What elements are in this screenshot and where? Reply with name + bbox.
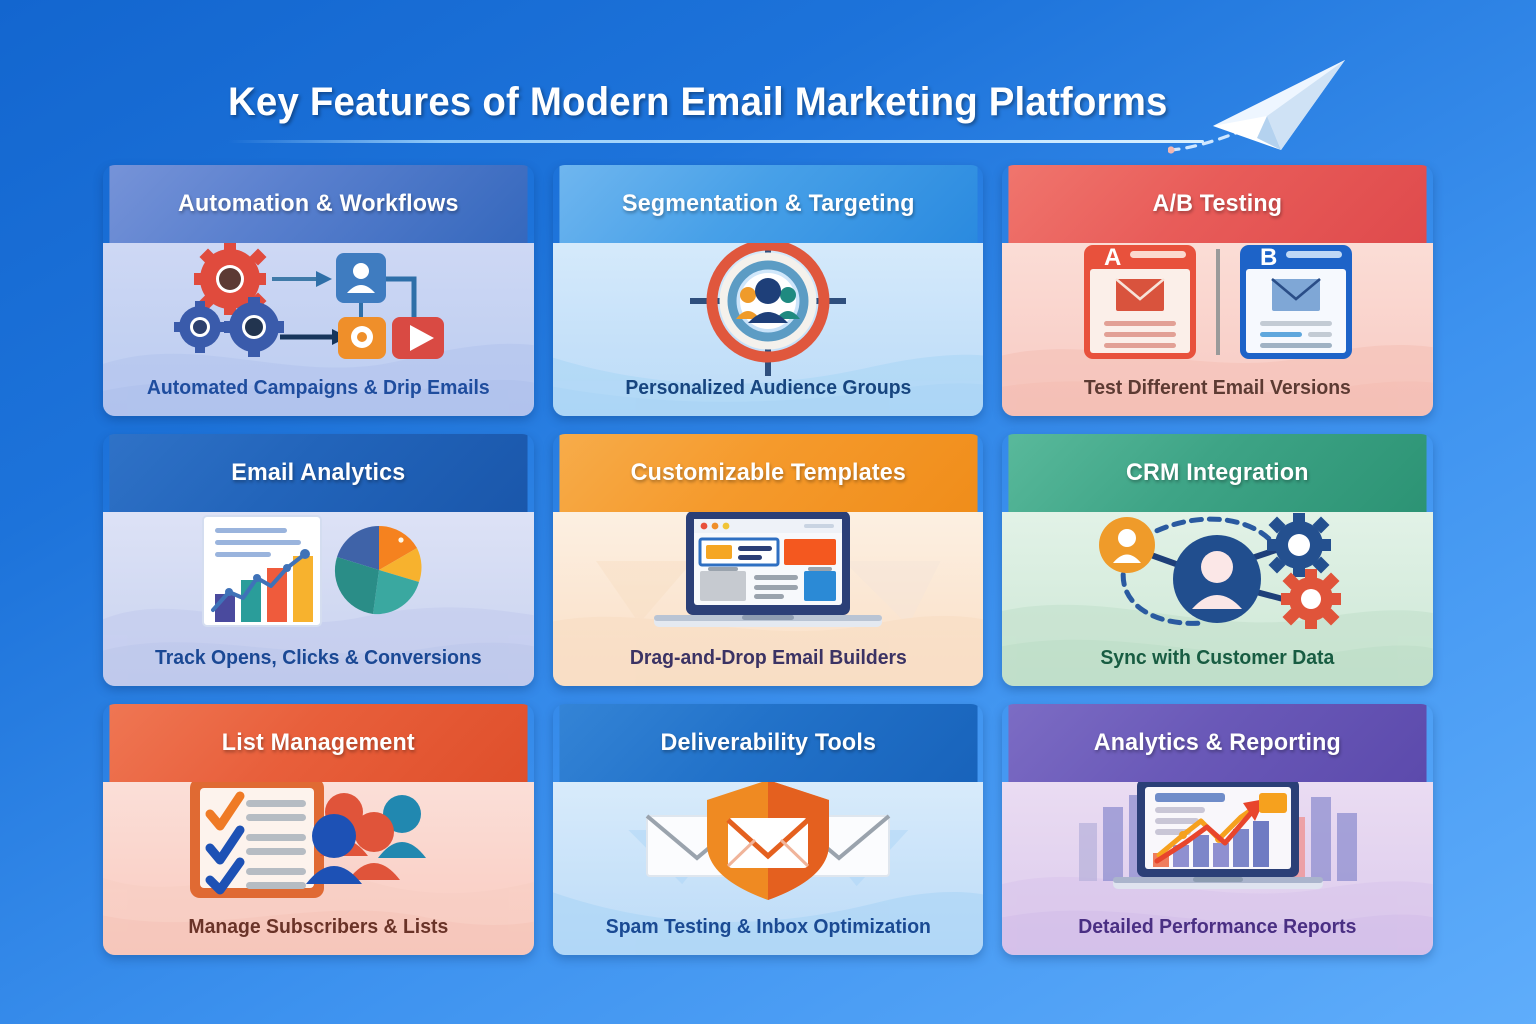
target-audience-icon — [553, 247, 984, 355]
card-title-email-analytics: Email Analytics — [109, 434, 527, 512]
laptop-growth-chart-icon — [1002, 786, 1433, 894]
feature-card-analytics-reporting[interactable]: Analytics & Reporting — [1002, 704, 1433, 955]
header-banner: Key Features of Modern Email Marketing P… — [0, 34, 1536, 140]
card-body-analytics-reporting: Detailed Performance Reports — [1002, 782, 1433, 955]
card-caption-templates: Drag-and-Drop Email Builders — [559, 647, 977, 670]
feature-card-templates[interactable]: Customizable Templates — [553, 434, 984, 685]
feature-card-automation[interactable]: Automation & Workflows — [103, 165, 534, 416]
contacts-gears-icon — [1002, 516, 1433, 624]
card-caption-list-management: Manage Subscribers & Lists — [109, 916, 527, 939]
bar-pie-chart-icon — [103, 516, 534, 624]
card-caption-deliverability: Spam Testing & Inbox Optimization — [559, 916, 977, 939]
card-body-ab-testing: A B — [1002, 243, 1433, 416]
card-title-deliverability: Deliverability Tools — [559, 704, 977, 782]
feature-card-ab-testing[interactable]: A/B Testing A — [1002, 165, 1433, 416]
feature-card-deliverability[interactable]: Deliverability Tools — [553, 704, 984, 955]
title-underline-rule — [228, 140, 1204, 143]
feature-card-email-analytics[interactable]: Email Analytics — [103, 434, 534, 685]
card-title-ab-testing: A/B Testing — [1009, 165, 1427, 243]
feature-card-list-management[interactable]: List Management — [103, 704, 534, 955]
card-title-templates: Customizable Templates — [559, 434, 977, 512]
card-title-crm: CRM Integration — [1009, 434, 1427, 512]
card-body-segmentation: Personalized Audience Groups — [553, 243, 984, 416]
feature-card-crm[interactable]: CRM Integration — [1002, 434, 1433, 685]
card-caption-automation: Automated Campaigns & Drip Emails — [109, 377, 527, 400]
feature-card-segmentation[interactable]: Segmentation & Targeting — [553, 165, 984, 416]
variant-b-label: B — [1260, 244, 1277, 271]
card-title-analytics-reporting: Analytics & Reporting — [1009, 704, 1427, 782]
feature-card-grid: Automation & Workflows — [103, 165, 1433, 955]
card-title-automation: Automation & Workflows — [109, 165, 527, 243]
gears-workflow-icon — [103, 247, 534, 355]
card-body-list-management: Manage Subscribers & Lists — [103, 782, 534, 955]
card-body-deliverability: Spam Testing & Inbox Optimization — [553, 782, 984, 955]
card-caption-ab-testing: Test Different Email Versions — [1009, 377, 1427, 400]
laptop-template-icon — [553, 516, 984, 624]
card-title-segmentation: Segmentation & Targeting — [559, 165, 977, 243]
shield-envelope-icon — [553, 786, 984, 894]
card-caption-segmentation: Personalized Audience Groups — [559, 377, 977, 400]
card-caption-analytics-reporting: Detailed Performance Reports — [1009, 916, 1427, 939]
paper-plane-icon — [1205, 54, 1355, 164]
infographic-page: Key Features of Modern Email Marketing P… — [0, 0, 1536, 1024]
variant-a-label: A — [1104, 244, 1121, 271]
checklist-people-icon — [103, 786, 534, 894]
page-title: Key Features of Modern Email Marketing P… — [228, 80, 1188, 125]
card-body-templates: Drag-and-Drop Email Builders — [553, 512, 984, 685]
card-body-crm: Sync with Customer Data — [1002, 512, 1433, 685]
card-title-list-management: List Management — [109, 704, 527, 782]
card-body-email-analytics: Track Opens, Clicks & Conversions — [103, 512, 534, 685]
ab-split-email-icon: A B — [1002, 247, 1433, 355]
card-body-automation: Automated Campaigns & Drip Emails — [103, 243, 534, 416]
card-caption-crm: Sync with Customer Data — [1009, 647, 1427, 670]
card-caption-email-analytics: Track Opens, Clicks & Conversions — [109, 647, 527, 670]
